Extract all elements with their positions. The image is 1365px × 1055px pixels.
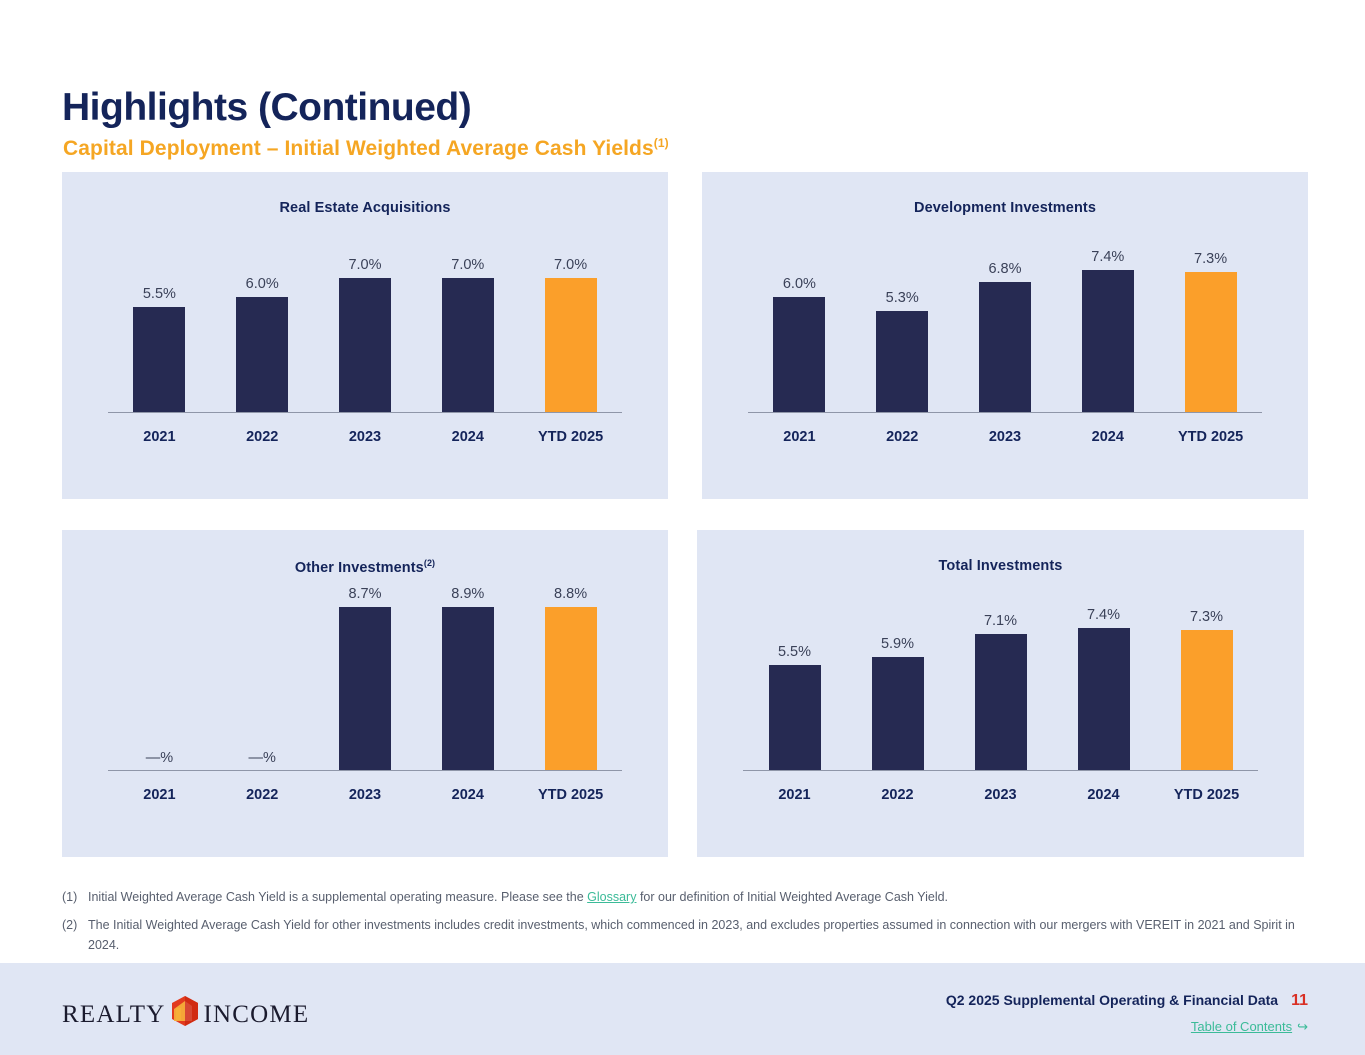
chart-bar bbox=[876, 311, 928, 413]
chart-bar bbox=[773, 297, 825, 413]
chart-bar-group: 5.9% bbox=[846, 586, 949, 771]
chart-bar-group: 7.0% bbox=[416, 228, 519, 413]
chart-area: —%—%8.7%8.9%8.8%2021202220232024YTD 2025 bbox=[108, 586, 622, 817]
chart-title: Real Estate Acquisitions bbox=[62, 200, 668, 216]
glossary-link[interactable]: Glossary bbox=[587, 890, 636, 904]
bar-value-label: 5.9% bbox=[881, 636, 914, 652]
chart-axis-line bbox=[748, 412, 1262, 414]
footnote-text: The Initial Weighted Average Cash Yield … bbox=[88, 916, 1297, 955]
x-axis-tick-label: YTD 2025 bbox=[519, 777, 622, 803]
footer-document-title: Q2 2025 Supplemental Operating & Financi… bbox=[946, 992, 1278, 1008]
chart-plot: —%—%8.7%8.9%8.8% bbox=[108, 586, 622, 771]
chart-bar-group: 6.8% bbox=[954, 228, 1057, 413]
chart-plot: 5.5%5.9%7.1%7.4%7.3% bbox=[743, 586, 1258, 771]
bar-value-label: 6.0% bbox=[783, 276, 816, 292]
chart-bar bbox=[236, 297, 288, 413]
bar-value-label: 8.9% bbox=[451, 586, 484, 602]
logo-text-left: REALTY bbox=[62, 1001, 166, 1029]
chart-bar-group: 7.4% bbox=[1056, 228, 1159, 413]
chart-axis-line bbox=[743, 770, 1258, 772]
bar-value-label: 6.0% bbox=[246, 276, 279, 292]
x-axis-tick-label: 2022 bbox=[846, 777, 949, 803]
chart-panel-development-investments: Development Investments6.0%5.3%6.8%7.4%7… bbox=[702, 172, 1308, 499]
chart-bar-group: 5.5% bbox=[108, 228, 211, 413]
footer-right-block: Q2 2025 Supplemental Operating & Financi… bbox=[946, 992, 1308, 1036]
chart-title-text: Total Investments bbox=[939, 558, 1063, 574]
chart-bar bbox=[1078, 628, 1130, 771]
bar-value-label: 5.3% bbox=[886, 290, 919, 306]
x-axis-tick-label: 2024 bbox=[416, 777, 519, 803]
bar-value-label: 7.0% bbox=[554, 257, 587, 273]
chart-area: 5.5%5.9%7.1%7.4%7.3%2021202220232024YTD … bbox=[743, 586, 1258, 817]
chart-title-text: Real Estate Acquisitions bbox=[279, 200, 450, 216]
chart-x-axis-labels: 2021202220232024YTD 2025 bbox=[743, 777, 1258, 811]
bar-value-label: —% bbox=[146, 750, 173, 766]
chart-bar bbox=[1082, 270, 1134, 413]
chart-bar bbox=[339, 607, 391, 771]
chart-x-axis-labels: 2021202220232024YTD 2025 bbox=[108, 419, 622, 453]
x-axis-tick-label: YTD 2025 bbox=[519, 419, 622, 445]
chart-bar bbox=[1181, 630, 1233, 771]
footnote-text-after: for our definition of Initial Weighted A… bbox=[636, 890, 948, 904]
x-axis-tick-label: 2022 bbox=[211, 419, 314, 445]
bar-value-label: 7.0% bbox=[348, 257, 381, 273]
footnote-text-before: The Initial Weighted Average Cash Yield … bbox=[88, 918, 1295, 951]
x-axis-tick-label: 2024 bbox=[416, 419, 519, 445]
bar-value-label: 6.8% bbox=[988, 261, 1021, 277]
chart-bar bbox=[545, 278, 597, 413]
footnote: (2)The Initial Weighted Average Cash Yie… bbox=[62, 916, 1297, 955]
chart-bar-group: —% bbox=[211, 586, 314, 771]
x-axis-tick-label: 2024 bbox=[1052, 777, 1155, 803]
bar-value-label: 7.4% bbox=[1091, 249, 1124, 265]
x-axis-tick-label: 2023 bbox=[314, 419, 417, 445]
chart-axis-line bbox=[108, 770, 622, 772]
chart-bar-group: 8.8% bbox=[519, 586, 622, 771]
x-axis-tick-label: 2023 bbox=[314, 777, 417, 803]
x-axis-tick-label: 2021 bbox=[748, 419, 851, 445]
chart-bar bbox=[545, 607, 597, 771]
chart-bar-group: 5.3% bbox=[851, 228, 954, 413]
chart-bar-group: 7.3% bbox=[1159, 228, 1262, 413]
bar-value-label: 5.5% bbox=[778, 644, 811, 660]
chart-panel-real-estate-acquisitions: Real Estate Acquisitions5.5%6.0%7.0%7.0%… bbox=[62, 172, 668, 499]
table-of-contents-link[interactable]: Table of Contents bbox=[1191, 1019, 1292, 1034]
chart-bar bbox=[442, 607, 494, 771]
arrow-right-icon[interactable]: ↪ bbox=[1297, 1019, 1308, 1034]
x-axis-tick-label: 2024 bbox=[1056, 419, 1159, 445]
slide: Highlights (Continued) Capital Deploymen… bbox=[0, 0, 1365, 1055]
chart-bar-group: 8.7% bbox=[314, 586, 417, 771]
chart-bar bbox=[339, 278, 391, 413]
x-axis-tick-label: 2023 bbox=[949, 777, 1052, 803]
page-footer: REALTY INCOME Q2 2025 Supplemental Opera… bbox=[0, 963, 1365, 1055]
chart-title: Other Investments(2) bbox=[62, 558, 668, 576]
bar-value-label: 7.1% bbox=[984, 613, 1017, 629]
x-axis-tick-label: 2023 bbox=[954, 419, 1057, 445]
chart-title: Development Investments bbox=[702, 200, 1308, 216]
footnote-text-before: Initial Weighted Average Cash Yield is a… bbox=[88, 890, 587, 904]
chart-panel-total-investments: Total Investments5.5%5.9%7.1%7.4%7.3%202… bbox=[697, 530, 1304, 857]
footer-document-title-row: Q2 2025 Supplemental Operating & Financi… bbox=[946, 992, 1308, 1010]
page-subtitle-text: Capital Deployment – Initial Weighted Av… bbox=[63, 137, 654, 160]
chart-area: 6.0%5.3%6.8%7.4%7.3%2021202220232024YTD … bbox=[748, 228, 1262, 459]
footnotes: (1)Initial Weighted Average Cash Yield i… bbox=[62, 888, 1297, 964]
footnote: (1)Initial Weighted Average Cash Yield i… bbox=[62, 888, 1297, 907]
chart-title: Total Investments bbox=[697, 558, 1304, 574]
footer-toc-row[interactable]: Table of Contents↪ bbox=[946, 1018, 1308, 1036]
bar-value-label: 7.0% bbox=[451, 257, 484, 273]
chart-title-footnote-marker: (2) bbox=[424, 558, 435, 568]
x-axis-tick-label: YTD 2025 bbox=[1159, 419, 1262, 445]
bar-value-label: 7.3% bbox=[1194, 251, 1227, 267]
chart-bar bbox=[769, 665, 821, 771]
chart-axis-line bbox=[108, 412, 622, 414]
x-axis-tick-label: YTD 2025 bbox=[1155, 777, 1258, 803]
chart-bar-group: 8.9% bbox=[416, 586, 519, 771]
page-subtitle-footnote-marker: (1) bbox=[654, 136, 669, 150]
bar-value-label: 7.3% bbox=[1190, 609, 1223, 625]
chart-bar bbox=[442, 278, 494, 413]
logo-text-right: INCOME bbox=[204, 1001, 310, 1029]
chart-bar-group: 7.0% bbox=[519, 228, 622, 413]
x-axis-tick-label: 2021 bbox=[108, 777, 211, 803]
page-subtitle: Capital Deployment – Initial Weighted Av… bbox=[63, 136, 669, 161]
chart-x-axis-labels: 2021202220232024YTD 2025 bbox=[748, 419, 1262, 453]
chart-plot: 5.5%6.0%7.0%7.0%7.0% bbox=[108, 228, 622, 413]
chart-bar-group: 7.4% bbox=[1052, 586, 1155, 771]
x-axis-tick-label: 2022 bbox=[211, 777, 314, 803]
x-axis-tick-label: 2022 bbox=[851, 419, 954, 445]
chart-plot: 6.0%5.3%6.8%7.4%7.3% bbox=[748, 228, 1262, 413]
footnote-text: Initial Weighted Average Cash Yield is a… bbox=[88, 888, 1297, 907]
realty-income-logo: REALTY INCOME bbox=[62, 996, 309, 1033]
chart-bar bbox=[975, 634, 1027, 771]
chart-bar-group: —% bbox=[108, 586, 211, 771]
chart-bar bbox=[979, 282, 1031, 413]
bar-value-label: 8.7% bbox=[348, 586, 381, 602]
x-axis-tick-label: 2021 bbox=[743, 777, 846, 803]
chart-bar bbox=[872, 657, 924, 771]
chart-panel-other-investments: Other Investments(2)—%—%8.7%8.9%8.8%2021… bbox=[62, 530, 668, 857]
bar-value-label: —% bbox=[248, 750, 275, 766]
bar-value-label: 7.4% bbox=[1087, 607, 1120, 623]
chart-bar-group: 5.5% bbox=[743, 586, 846, 771]
chart-x-axis-labels: 2021202220232024YTD 2025 bbox=[108, 777, 622, 811]
footnote-marker: (2) bbox=[62, 916, 88, 935]
page-title: Highlights (Continued) bbox=[62, 86, 471, 130]
chart-bar bbox=[133, 307, 185, 413]
chart-bar-group: 7.1% bbox=[949, 586, 1052, 771]
chart-area: 5.5%6.0%7.0%7.0%7.0%2021202220232024YTD … bbox=[108, 228, 622, 459]
bar-value-label: 5.5% bbox=[143, 286, 176, 302]
chart-bar-group: 6.0% bbox=[211, 228, 314, 413]
bar-value-label: 8.8% bbox=[554, 586, 587, 602]
chart-bar-group: 7.0% bbox=[314, 228, 417, 413]
chart-bar-group: 6.0% bbox=[748, 228, 851, 413]
chart-title-text: Development Investments bbox=[914, 200, 1096, 216]
footer-page-number: 11 bbox=[1291, 992, 1308, 1009]
x-axis-tick-label: 2021 bbox=[108, 419, 211, 445]
chart-bar bbox=[1185, 272, 1237, 413]
chart-bar-group: 7.3% bbox=[1155, 586, 1258, 771]
realty-income-house-icon bbox=[172, 996, 198, 1033]
footnote-marker: (1) bbox=[62, 888, 88, 907]
chart-title-text: Other Investments bbox=[295, 560, 424, 576]
